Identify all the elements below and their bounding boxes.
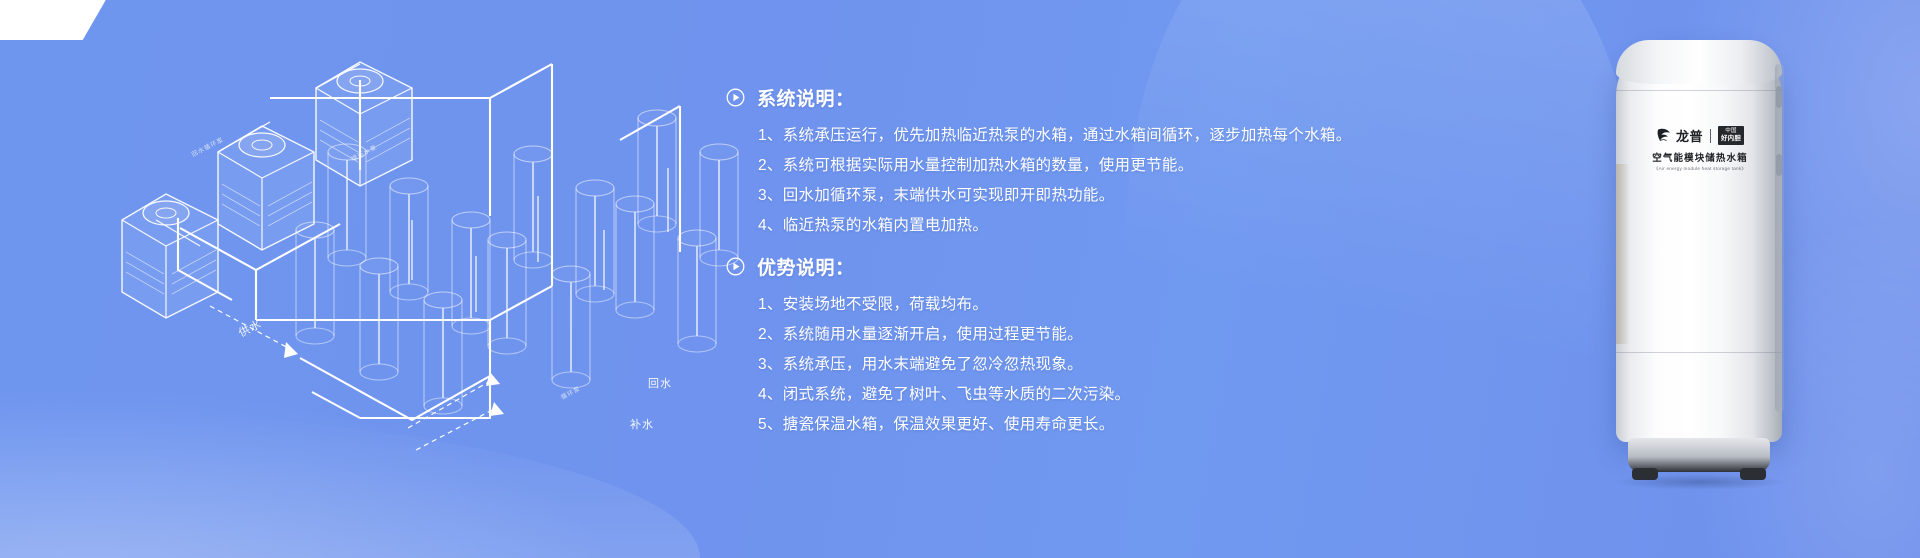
system-schematic-diagram: 供水 回水 补水 回水循环泵 增压水泵 循环泵 [60, 20, 780, 480]
system-description-list: 1、系统承压运行，优先加热临近热泵的水箱，通过水箱间循环，逐步加热每个水箱。 2… [726, 121, 1546, 241]
product-image-water-tank: 龙普 中国 好内胆 空气能模块储热水箱 《Air energy module h… [1606, 34, 1796, 504]
list-item: 2、系统随用水量逐渐开启，使用过程更节能。 [758, 320, 1546, 350]
flow-arrow-heads [284, 342, 504, 416]
section-title: 优势说明： [757, 253, 855, 280]
tank-seam-upper [1616, 90, 1782, 91]
description-panel: 系统说明： 1、系统承压运行，优先加热临近热泵的水箱，通过水箱间循环，逐步加热每… [726, 84, 1546, 444]
play-circle-icon [726, 88, 745, 107]
diagram-label-return-water: 回水 [648, 375, 672, 391]
badge-line-1: 中国 [1725, 128, 1736, 134]
section-advantage-description: 优势说明： 1、安装场地不受限，荷载均布。 2、系统随用水量逐渐开启，使用过程更… [726, 253, 1546, 440]
brand-row: 龙普 中国 好内胆 [1636, 126, 1764, 145]
tank-body [1616, 42, 1782, 442]
list-item: 4、临近热泵的水箱内置电加热。 [758, 211, 1546, 241]
quality-badge: 中国 好内胆 [1718, 126, 1744, 145]
heat-pump-unit-1 [122, 194, 218, 318]
brand-divider [1710, 129, 1711, 143]
list-item: 5、搪瓷保温水箱，保温效果更好、使用寿命更长。 [758, 410, 1546, 440]
diagram-label-makeup-water: 补水 [630, 416, 654, 432]
section-header: 优势说明： [726, 253, 1546, 280]
tank-shading [1616, 164, 1630, 344]
product-branding: 龙普 中国 好内胆 空气能模块储热水箱 《Air energy module h… [1636, 126, 1764, 172]
advantage-description-list: 1、安装场地不受限，荷载均布。 2、系统随用水量逐渐开启，使用过程更节能。 3、… [726, 290, 1546, 440]
product-name-en: 《Air energy module heat storage tank》 [1636, 166, 1764, 172]
badge-line-2: 好内胆 [1721, 135, 1741, 142]
section-title: 系统说明： [757, 84, 855, 111]
tank-seam-lower [1616, 352, 1782, 353]
tank-port-tab-lower [1776, 154, 1782, 176]
list-item: 1、安装场地不受限，荷载均布。 [758, 290, 1546, 320]
list-item: 2、系统可根据实际用水量控制加热水箱的数量，使用更节能。 [758, 151, 1546, 181]
list-item: 3、回水加循环泵，末端供水可实现即开即热功能。 [758, 181, 1546, 211]
tank-side-strip [1775, 64, 1784, 412]
play-circle-icon [726, 257, 745, 276]
list-item: 4、闭式系统，避免了树叶、飞虫等水质的二次污染。 [758, 380, 1546, 410]
product-name-cn: 空气能模块储热水箱 [1636, 150, 1764, 164]
tank-port-tab-upper [1776, 86, 1782, 108]
tank-base [1628, 438, 1770, 472]
tank-top-cap [1616, 40, 1782, 84]
list-item: 3、系统承压，用水末端避免了忽冷忽热现象。 [758, 350, 1546, 380]
promo-banner: 供水 回水 补水 回水循环泵 增压水泵 循环泵 系统说明： 1、系统承压运行，优… [0, 0, 1920, 558]
list-item: 1、系统承压运行，优先加热临近热泵的水箱，通过水箱间循环，逐步加热每个水箱。 [758, 121, 1546, 151]
section-header: 系统说明： [726, 84, 1546, 111]
lopu-logo-icon [1656, 127, 1672, 144]
brand-name: 龙普 [1676, 126, 1703, 145]
tank-ground-shadow [1612, 474, 1788, 490]
section-system-description: 系统说明： 1、系统承压运行，优先加热临近热泵的水箱，通过水箱间循环，逐步加热每… [726, 84, 1546, 241]
